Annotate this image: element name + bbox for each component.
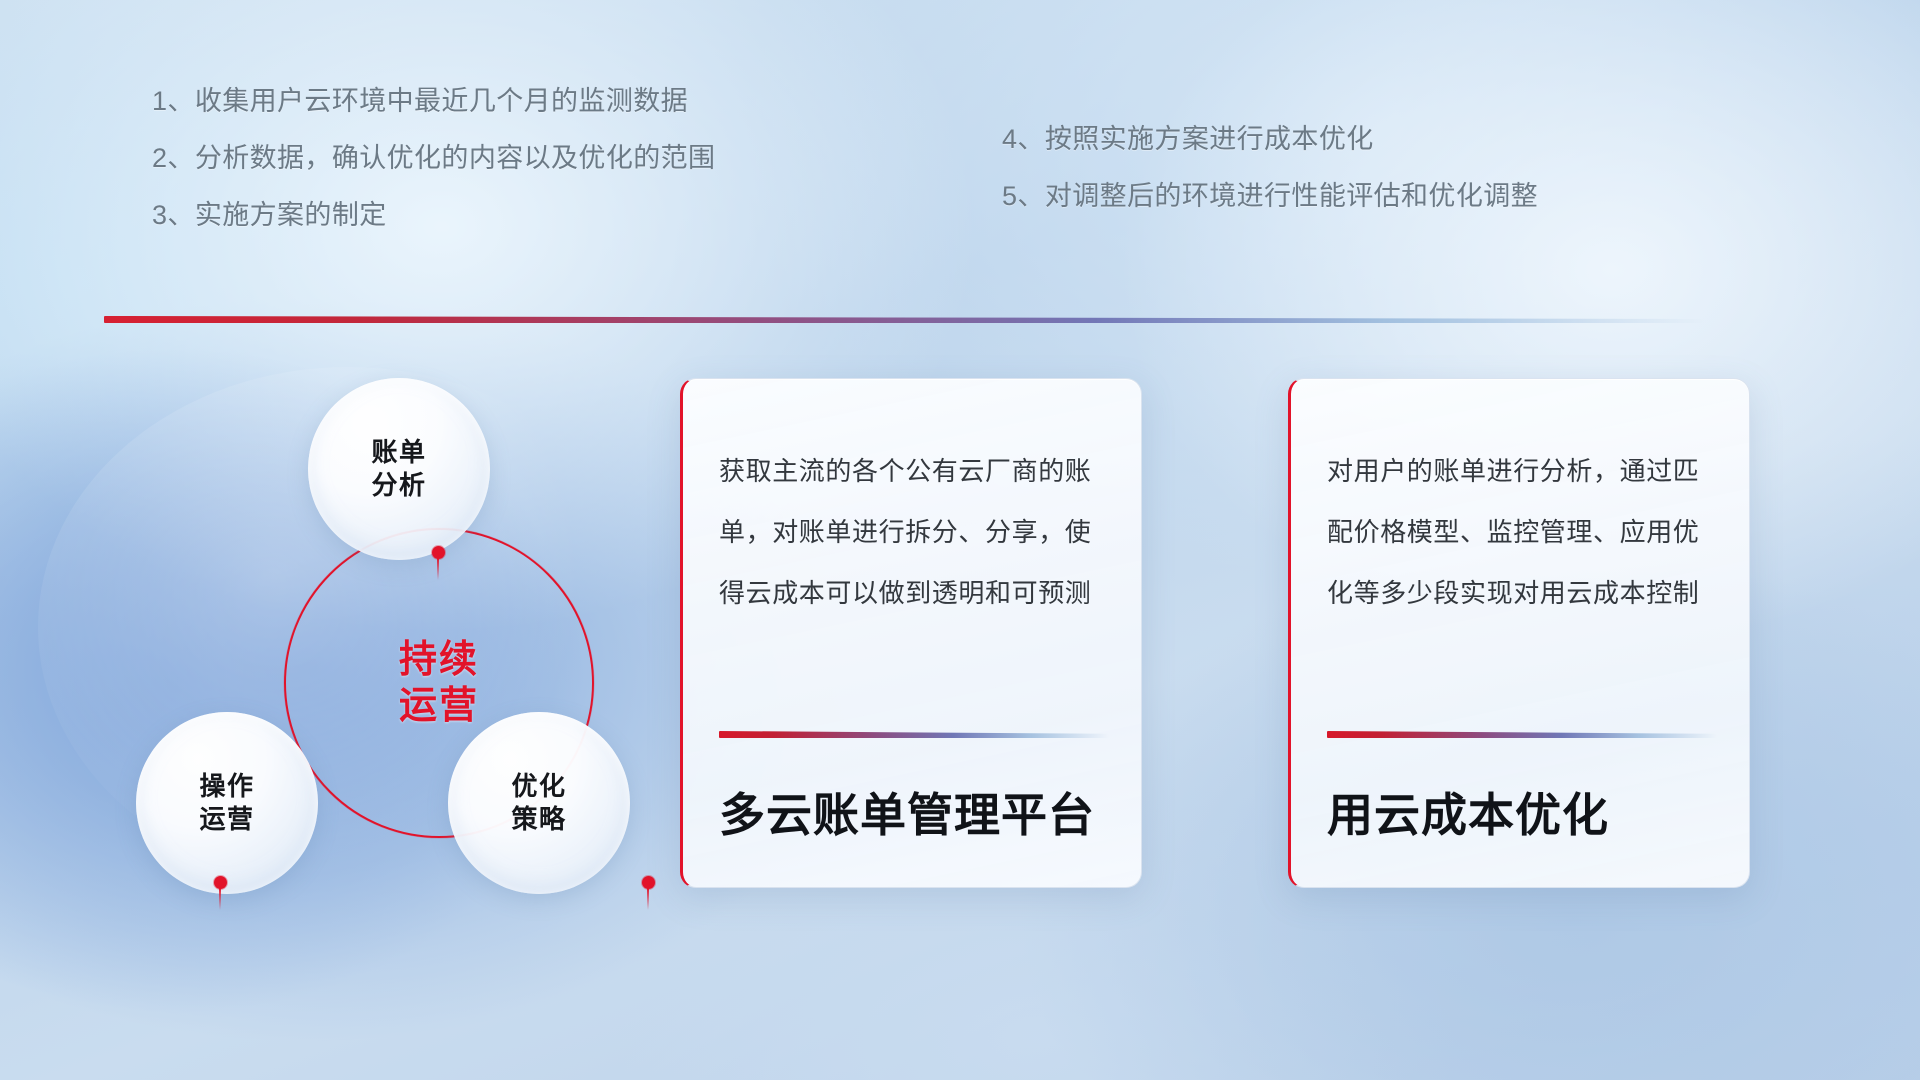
steps-list: 1、收集用户云环境中最近几个月的监测数据 2、分析数据，确认优化的内容以及优化的…: [0, 88, 1920, 248]
step-item: 5、对调整后的环境进行性能评估和优化调整: [1002, 183, 1538, 210]
bubble-label-line1: 账单: [371, 436, 426, 469]
card-multi-cloud-billing[interactable]: 获取主流的各个公有云厂商的账单，对账单进行拆分、分享，使得云成本可以做到透明和可…: [680, 378, 1142, 888]
connector-dot: [642, 876, 655, 889]
card-divider: [719, 731, 1109, 738]
connector-tick: [437, 558, 439, 580]
card-cloud-cost-optimization[interactable]: 对用户的账单进行分析，通过匹配价格模型、监控管理、应用优化等多少段实现对用云成本…: [1288, 378, 1750, 888]
bubble-label-line2: 运营: [199, 803, 254, 836]
card-body-text: 获取主流的各个公有云厂商的账单，对账单进行拆分、分享，使得云成本可以做到透明和可…: [719, 441, 1111, 624]
bubble-label-line1: 优化: [511, 770, 566, 803]
step-item: 1、收集用户云环境中最近几个月的监测数据: [152, 88, 715, 115]
bubble-label-line2: 分析: [371, 469, 426, 502]
steps-right-column: 4、按照实施方案进行成本优化 5、对调整后的环境进行性能评估和优化调整: [1002, 126, 1538, 210]
bubble-label-line2: 策略: [511, 803, 566, 836]
card-body-text: 对用户的账单进行分析，通过匹配价格模型、监控管理、应用优化等多少段实现对用云成本…: [1327, 441, 1719, 624]
bubble-bill-analysis[interactable]: 账单 分析: [308, 378, 490, 560]
connector-dot: [214, 876, 227, 889]
step-item: 4、按照实施方案进行成本优化: [1002, 126, 1538, 153]
circle-diagram: 持续 运营 账单 分析 操作 运营 优化 策略: [96, 356, 626, 936]
step-item: 3、实施方案的制定: [152, 202, 715, 229]
card-title: 用云成本优化: [1327, 789, 1723, 842]
center-label-line2: 运营: [399, 683, 479, 729]
card-divider: [1327, 731, 1717, 738]
bubble-strategy[interactable]: 优化 策略: [448, 712, 630, 894]
card-title: 多云账单管理平台: [719, 789, 1115, 842]
connector-dot: [432, 546, 445, 559]
connector-tick: [219, 888, 221, 910]
bubble-label-line1: 操作: [199, 770, 254, 803]
center-label-line1: 持续: [399, 637, 479, 683]
connector-tick: [647, 888, 649, 910]
bubble-operation[interactable]: 操作 运营: [136, 712, 318, 894]
step-item: 2、分析数据，确认优化的内容以及优化的范围: [152, 145, 715, 172]
steps-left-column: 1、收集用户云环境中最近几个月的监测数据 2、分析数据，确认优化的内容以及优化的…: [152, 88, 715, 229]
